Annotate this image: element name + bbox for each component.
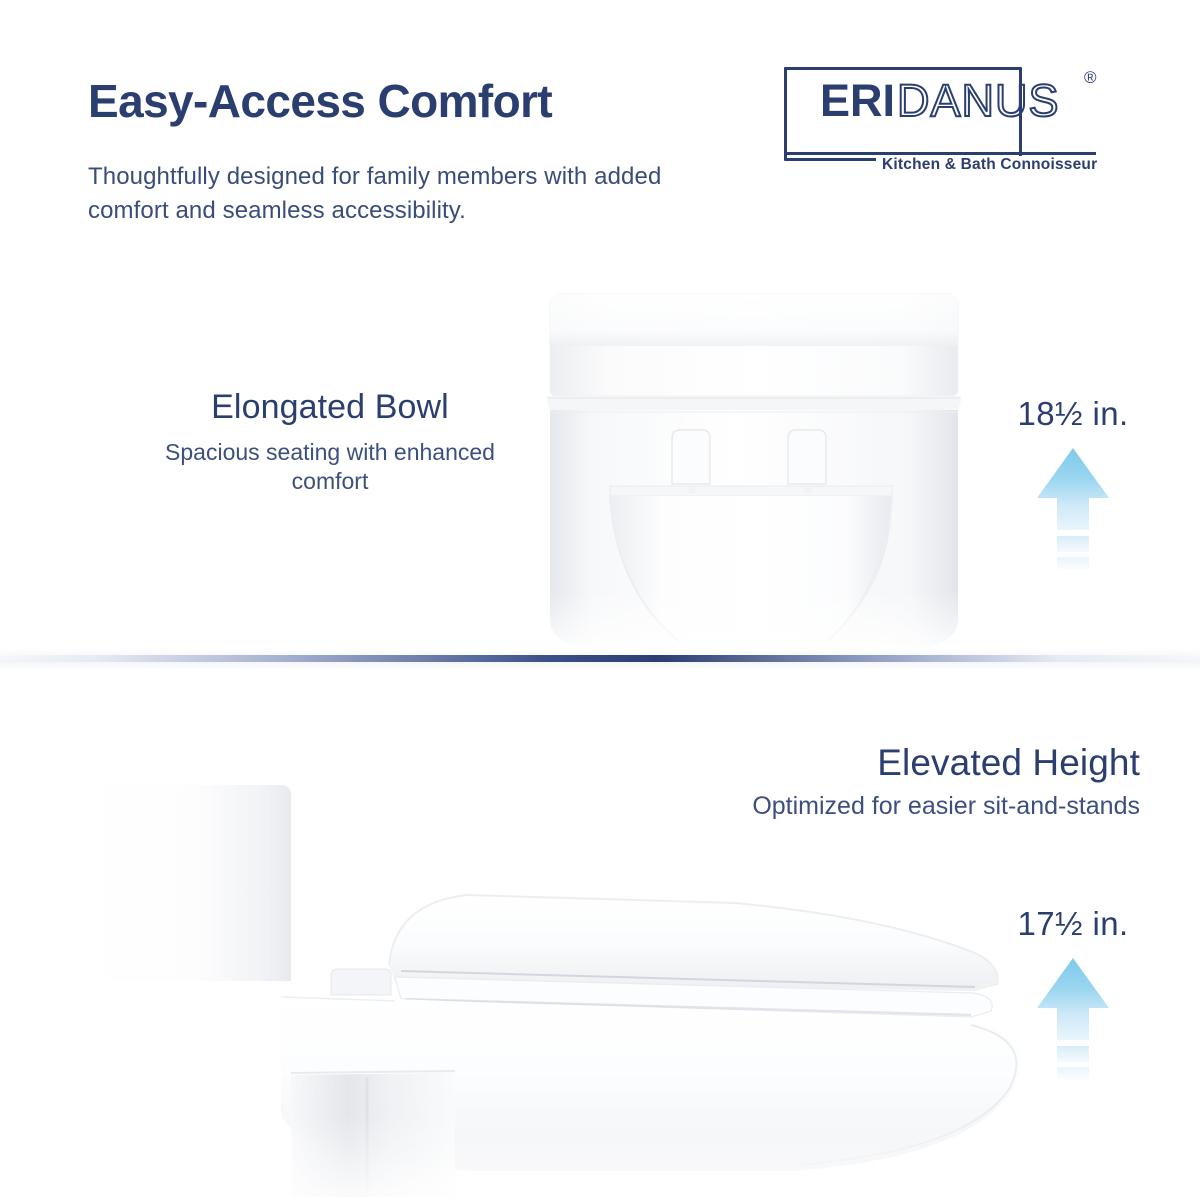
logo-frame-baseline bbox=[784, 152, 1096, 155]
page-title: Easy-Access Comfort bbox=[88, 78, 552, 124]
feature-title-elongated-bowl: Elongated Bowl bbox=[130, 388, 530, 426]
feature-title-elevated-height: Elevated Height bbox=[600, 742, 1140, 783]
product-image-toilet-front-view bbox=[520, 290, 990, 658]
feature-description-elongated-bowl: Spacious seating with enhanced comfort bbox=[130, 438, 530, 496]
measurement-value-18-half-in: 18½ in. bbox=[968, 395, 1178, 433]
feature-block-elongated-bowl: Elongated Bowl Spacious seating with enh… bbox=[130, 388, 530, 496]
logo-eri-text: ERI bbox=[818, 75, 897, 126]
brand-logo: ERIDANUS ® Kitchen & Bath Connoisseur bbox=[784, 62, 1124, 172]
measurement-block-seat-height: 17½ in. bbox=[968, 905, 1178, 1084]
up-arrow-icon bbox=[968, 956, 1178, 1084]
toilet-side-view-illustration bbox=[95, 785, 1025, 1200]
up-arrow-icon bbox=[968, 446, 1178, 574]
logo-wordmark: ERIDANUS bbox=[818, 78, 1060, 123]
up-arrow-glyph bbox=[1035, 956, 1111, 1084]
registered-trademark-icon: ® bbox=[1084, 68, 1097, 88]
toilet-front-view-illustration bbox=[520, 290, 990, 658]
page-subtitle: Thoughtfully designed for family members… bbox=[88, 160, 748, 228]
logo-tagline: Kitchen & Bath Connoisseur bbox=[876, 156, 1097, 174]
measurement-block-bowl-height: 18½ in. bbox=[968, 395, 1178, 574]
infographic-page: Easy-Access Comfort Thoughtfully designe… bbox=[0, 0, 1200, 1200]
section-divider bbox=[0, 655, 1200, 662]
product-image-toilet-side-view bbox=[95, 785, 1025, 1200]
measurement-value-17-half-in: 17½ in. bbox=[968, 905, 1178, 943]
up-arrow-glyph bbox=[1035, 446, 1111, 574]
logo-danus-text: DANUS bbox=[897, 75, 1060, 126]
